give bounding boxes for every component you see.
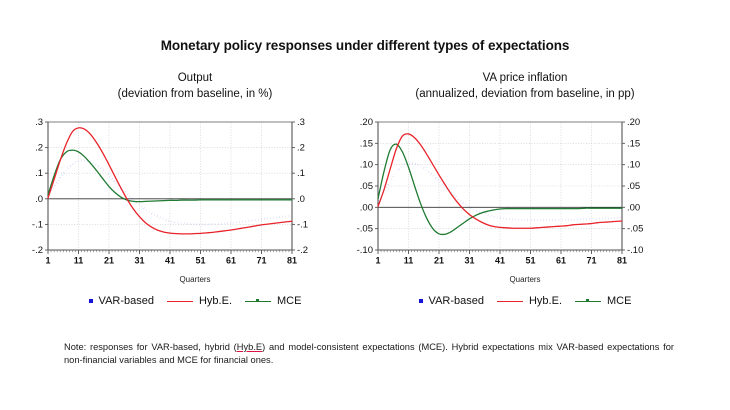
legend-item-hybrid: Hyb.E. [167, 295, 232, 307]
note-underlined-term: Hyb.E [237, 342, 262, 352]
svg-text:1: 1 [375, 256, 380, 266]
svg-text:-.1: -.1 [297, 219, 308, 230]
svg-text:.00: .00 [360, 202, 373, 213]
svg-text:.20: .20 [360, 118, 373, 128]
svg-text:.05: .05 [360, 181, 373, 192]
svg-text:71: 71 [586, 256, 596, 266]
panel-output: Output (deviation from baseline, in %) 1… [20, 70, 370, 335]
svg-text:1: 1 [45, 256, 50, 266]
legend-marker-mce [245, 301, 271, 302]
svg-text:.20: .20 [627, 118, 640, 128]
svg-text:31: 31 [134, 256, 144, 266]
legend-label-var-based: VAR-based [99, 295, 154, 307]
svg-text:.2: .2 [35, 143, 43, 154]
legend-label-hybrid: Hyb.E. [199, 295, 232, 307]
legend-item-var-based: VAR-based [89, 295, 154, 307]
plot-inflation: 11121314151617181.20.20.15.15.10.10.05.0… [350, 118, 700, 268]
plot-inflation-svg: 11121314151617181.20.20.15.15.10.10.05.0… [350, 118, 700, 270]
svg-text:.15: .15 [360, 138, 373, 149]
svg-text:31: 31 [464, 256, 474, 266]
svg-text:.2: .2 [297, 143, 305, 154]
panel-inflation-title: VA price inflation [350, 72, 700, 84]
svg-text:-.2: -.2 [297, 245, 308, 256]
svg-text:.10: .10 [627, 160, 640, 171]
svg-text:.3: .3 [297, 118, 305, 128]
panel-output-title: Output [20, 72, 370, 84]
legend-marker-hybrid [167, 301, 193, 302]
figure-title: Monetary policy responses under differen… [0, 38, 730, 53]
svg-text:-.2: -.2 [32, 245, 43, 256]
svg-text:.1: .1 [297, 168, 305, 179]
svg-text:41: 41 [165, 256, 175, 266]
svg-text:-.05: -.05 [627, 224, 643, 235]
legend-item-hybrid: Hyb.E. [497, 295, 562, 307]
legend-inflation: VAR-based Hyb.E. MCE [350, 295, 700, 307]
svg-text:11: 11 [74, 256, 84, 266]
svg-text:21: 21 [104, 256, 114, 266]
legend-item-var-based: VAR-based [419, 295, 484, 307]
svg-text:.15: .15 [627, 138, 640, 149]
svg-text:81: 81 [287, 256, 297, 266]
legend-item-mce: MCE [245, 295, 301, 307]
legend-label-var-based: VAR-based [429, 295, 484, 307]
svg-text:51: 51 [195, 256, 205, 266]
svg-text:-.10: -.10 [627, 245, 643, 256]
panel-output-subtitle: (deviation from baseline, in %) [20, 88, 370, 100]
svg-text:.00: .00 [627, 202, 640, 213]
svg-text:41: 41 [495, 256, 505, 266]
legend-label-mce: MCE [277, 295, 301, 307]
legend-item-mce: MCE [575, 295, 631, 307]
legend-output: VAR-based Hyb.E. MCE [20, 295, 370, 307]
panel-va-price-inflation: VA price inflation (annualized, deviatio… [350, 70, 700, 335]
svg-text:.1: .1 [35, 168, 43, 179]
svg-text:.10: .10 [360, 160, 373, 171]
legend-label-hybrid: Hyb.E. [529, 295, 562, 307]
legend-label-mce: MCE [607, 295, 631, 307]
svg-text:61: 61 [226, 256, 236, 266]
svg-text:71: 71 [256, 256, 266, 266]
legend-marker-var-based [419, 299, 423, 303]
plot-output: 11121314151617181.3.3.2.2.1.1.0.0-.1-.1-… [20, 118, 370, 268]
svg-text:61: 61 [556, 256, 566, 266]
legend-marker-mce [575, 301, 601, 302]
panel-output-xlabel: Quarters [20, 275, 370, 284]
svg-text:81: 81 [617, 256, 627, 266]
figure-root: Monetary policy responses under differen… [0, 0, 730, 410]
svg-text:.05: .05 [627, 181, 640, 192]
figure-note: Note: responses for VAR-based, hybrid (H… [64, 341, 674, 367]
svg-text:51: 51 [525, 256, 535, 266]
svg-text:-.1: -.1 [32, 219, 43, 230]
svg-text:-.10: -.10 [357, 245, 373, 256]
legend-marker-hybrid [497, 301, 523, 302]
panels-container: Output (deviation from baseline, in %) 1… [0, 70, 730, 335]
svg-text:.0: .0 [297, 194, 305, 205]
panel-inflation-subtitle: (annualized, deviation from baseline, in… [350, 88, 700, 100]
svg-text:11: 11 [404, 256, 414, 266]
svg-text:-.05: -.05 [357, 224, 373, 235]
figure-note-text: Note: responses for VAR-based, hybrid (H… [64, 342, 674, 365]
panel-inflation-xlabel: Quarters [350, 275, 700, 284]
legend-marker-var-based [89, 299, 93, 303]
plot-output-svg: 11121314151617181.3.3.2.2.1.1.0.0-.1-.1-… [20, 118, 370, 270]
svg-text:.0: .0 [35, 194, 43, 205]
svg-text:.3: .3 [35, 118, 43, 128]
svg-text:21: 21 [434, 256, 444, 266]
